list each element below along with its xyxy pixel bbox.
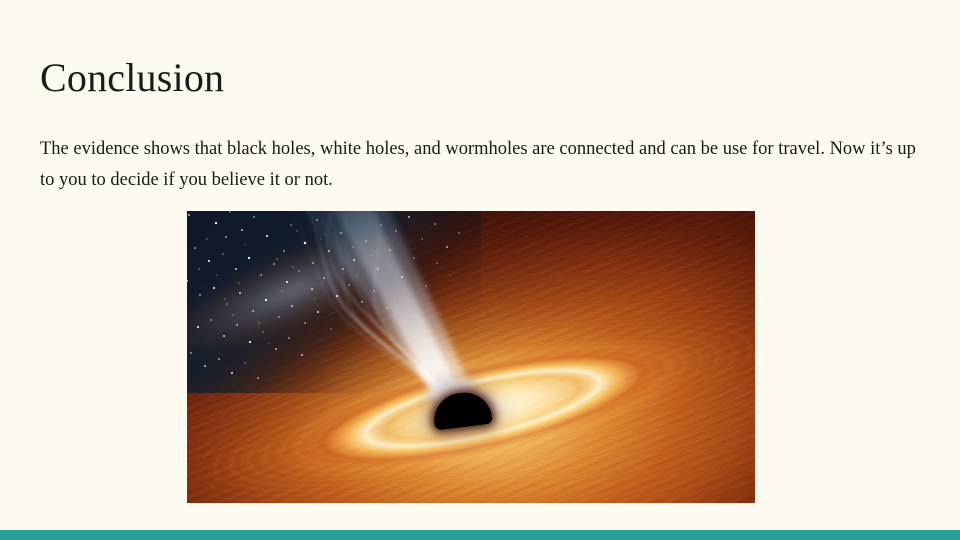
black-hole-image: [187, 211, 755, 503]
slide: Conclusion The evidence shows that black…: [0, 0, 960, 540]
page-title: Conclusion: [40, 54, 224, 102]
starfield: [187, 211, 481, 393]
body-text: The evidence shows that black holes, whi…: [40, 134, 920, 196]
accent-bar: [0, 530, 960, 540]
stars-layer: [187, 211, 481, 393]
